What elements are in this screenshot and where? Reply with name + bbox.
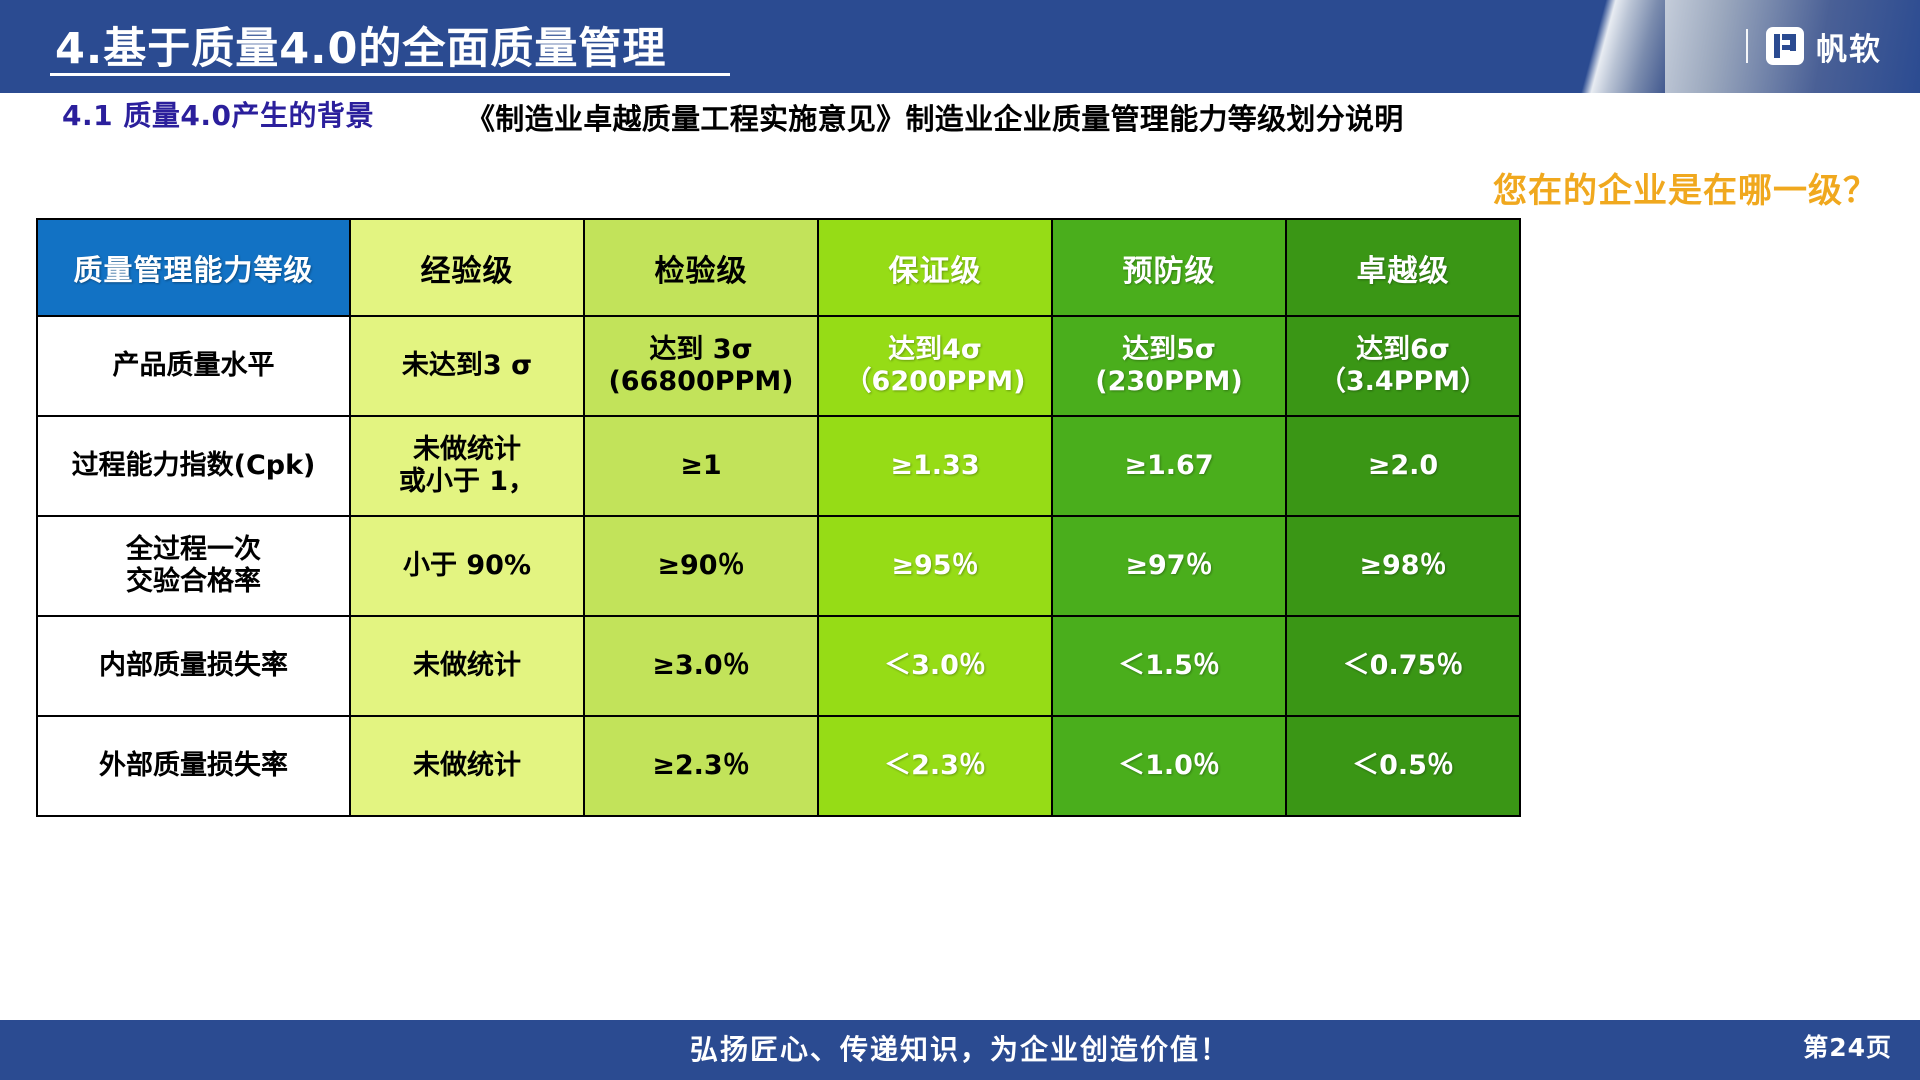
page-number-badge: 第24页: [1793, 1024, 1902, 1068]
table-cell-line: （6200PPM): [819, 366, 1051, 398]
table-cell: ＜0.5％: [1286, 716, 1520, 816]
table-cell: 未做统计: [350, 716, 584, 816]
table-cell: ≥97％: [1052, 516, 1286, 616]
table-cell-line: ＜3.0％: [819, 650, 1051, 682]
table-cell-line: (66800PPM): [585, 366, 817, 398]
table-cell-line: ≥98％: [1287, 550, 1519, 582]
table-header-cell-3: 保证级: [818, 219, 1052, 316]
table-cell-line: 达到4σ: [819, 334, 1051, 366]
table-cell-line: ≥3.0％: [585, 650, 817, 682]
table-cell: ＜2.3％: [818, 716, 1052, 816]
row-label-cell: 产品质量水平: [37, 316, 350, 416]
row-label-cell: 外部质量损失率: [37, 716, 350, 816]
table-cell: 达到5σ(230PPM): [1052, 316, 1286, 416]
row-label-line: 交验合格率: [38, 566, 349, 598]
table-cell-line: 小于 90%: [351, 550, 583, 582]
row-label-line: 外部质量损失率: [38, 750, 349, 782]
table-cell-line: ＜0.5％: [1287, 750, 1519, 782]
row-label-line: 全过程一次: [38, 534, 349, 566]
table-cell-line: ≥2.0: [1287, 450, 1519, 482]
row-label-line: 产品质量水平: [38, 350, 349, 382]
table-cell-line: 达到 3σ: [585, 334, 817, 366]
table-cell-line: 未做统计: [351, 650, 583, 682]
row-label-cell: 内部质量损失率: [37, 616, 350, 716]
table-cell-line: 达到5σ: [1053, 334, 1285, 366]
table-row: 内部质量损失率未做统计≥3.0％＜3.0％＜1.5％＜0.75％: [37, 616, 1520, 716]
table-cell: ≥2.0: [1286, 416, 1520, 516]
table-cell: 未做统计: [350, 616, 584, 716]
table-header-row: 质量管理能力等级 经验级 检验级 保证级 预防级 卓越级: [37, 219, 1520, 316]
table-cell: ≥1.67: [1052, 416, 1286, 516]
table-header-cell-0: 质量管理能力等级: [37, 219, 350, 316]
table-header-cell-1: 经验级: [350, 219, 584, 316]
table-cell: ＜1.5％: [1052, 616, 1286, 716]
table-header-cell-2: 检验级: [584, 219, 818, 316]
table-cell: 达到 3σ(66800PPM): [584, 316, 818, 416]
table-cell-line: ＜0.75％: [1287, 650, 1519, 682]
table-header-cell-5: 卓越级: [1286, 219, 1520, 316]
table-cell-line: ≥1.67: [1053, 450, 1285, 482]
table-cell-line: ≥2.3％: [585, 750, 817, 782]
table-cell: 未达到3 σ: [350, 316, 584, 416]
table-cell: ≥1.33: [818, 416, 1052, 516]
table-cell: ≥2.3％: [584, 716, 818, 816]
table-cell-line: 未做统计: [351, 750, 583, 782]
table-row: 过程能力指数(Cpk)未做统计或小于 1，≥1≥1.33≥1.67≥2.0: [37, 416, 1520, 516]
row-label-cell: 过程能力指数(Cpk): [37, 416, 350, 516]
table-cell: ≥95％: [818, 516, 1052, 616]
table-cell: 达到4σ（6200PPM): [818, 316, 1052, 416]
footer-slogan: 弘扬匠心、传递知识，为企业创造价值！: [0, 1020, 1920, 1080]
fanruan-logo-icon: [1765, 26, 1805, 66]
row-label-line: 过程能力指数(Cpk): [38, 450, 349, 482]
table-cell-line: ≥1.33: [819, 450, 1051, 482]
table-cell: ≥3.0％: [584, 616, 818, 716]
table-cell: 小于 90%: [350, 516, 584, 616]
header-bar: 4.基于质量4.0的全面质量管理 帆软: [0, 0, 1920, 93]
row-label-cell: 全过程一次交验合格率: [37, 516, 350, 616]
table-cell: ≥90％: [584, 516, 818, 616]
table-cell-line: ≥90％: [585, 550, 817, 582]
table-cell: ≥1: [584, 416, 818, 516]
table-row: 产品质量水平未达到3 σ达到 3σ(66800PPM)达到4σ（6200PPM)…: [37, 316, 1520, 416]
header-diagonal-accent: [1545, 0, 1665, 93]
table-cell-line: ＜2.3％: [819, 750, 1051, 782]
footer-bar: 弘扬匠心、传递知识，为企业创造价值！ 第24页: [0, 1020, 1920, 1080]
table-cell: ≥98％: [1286, 516, 1520, 616]
table-cell-line: 达到6σ: [1287, 334, 1519, 366]
table-cell: ＜3.0％: [818, 616, 1052, 716]
table-body: 产品质量水平未达到3 σ达到 3σ(66800PPM)达到4σ（6200PPM)…: [37, 316, 1520, 816]
table-cell-line: 未做统计: [351, 434, 583, 466]
table-cell-line: (230PPM): [1053, 366, 1285, 398]
table-cell-line: ＜1.5％: [1053, 650, 1285, 682]
question-prompt: 您在的企业是在哪一级？: [1493, 163, 1878, 212]
table-cell-line: ≥97％: [1053, 550, 1285, 582]
table-cell-line: 未达到3 σ: [351, 350, 583, 382]
brand-logo: 帆软: [1746, 22, 1882, 70]
table-cell: 达到6σ（3.4PPM）: [1286, 316, 1520, 416]
table-cell-line: ＜1.0％: [1053, 750, 1285, 782]
brand-divider: [1746, 29, 1748, 63]
brand-name: 帆软: [1816, 24, 1882, 69]
section-label: 4.1 质量4.0产生的背景: [62, 94, 374, 134]
table-cell-line: ≥95％: [819, 550, 1051, 582]
table-cell: ＜0.75％: [1286, 616, 1520, 716]
table-header-cell-4: 预防级: [1052, 219, 1286, 316]
document-title: 《制造业卓越质量工程实施意见》制造业企业质量管理能力等级划分说明: [466, 96, 1404, 138]
row-label-line: 内部质量损失率: [38, 650, 349, 682]
page-title: 4.基于质量4.0的全面质量管理: [55, 14, 666, 76]
table-cell-line: ≥1: [585, 450, 817, 482]
table-cell-line: 或小于 1，: [351, 466, 583, 498]
table-row: 全过程一次交验合格率小于 90%≥90％≥95％≥97％≥98％: [37, 516, 1520, 616]
title-underline: [50, 73, 730, 76]
table-row: 外部质量损失率未做统计≥2.3％＜2.3％＜1.0％＜0.5％: [37, 716, 1520, 816]
table-cell-line: （3.4PPM）: [1287, 366, 1519, 398]
quality-grade-table: 质量管理能力等级 经验级 检验级 保证级 预防级 卓越级 产品质量水平未达到3 …: [36, 218, 1521, 817]
table-cell: ＜1.0％: [1052, 716, 1286, 816]
table-cell: 未做统计或小于 1，: [350, 416, 584, 516]
